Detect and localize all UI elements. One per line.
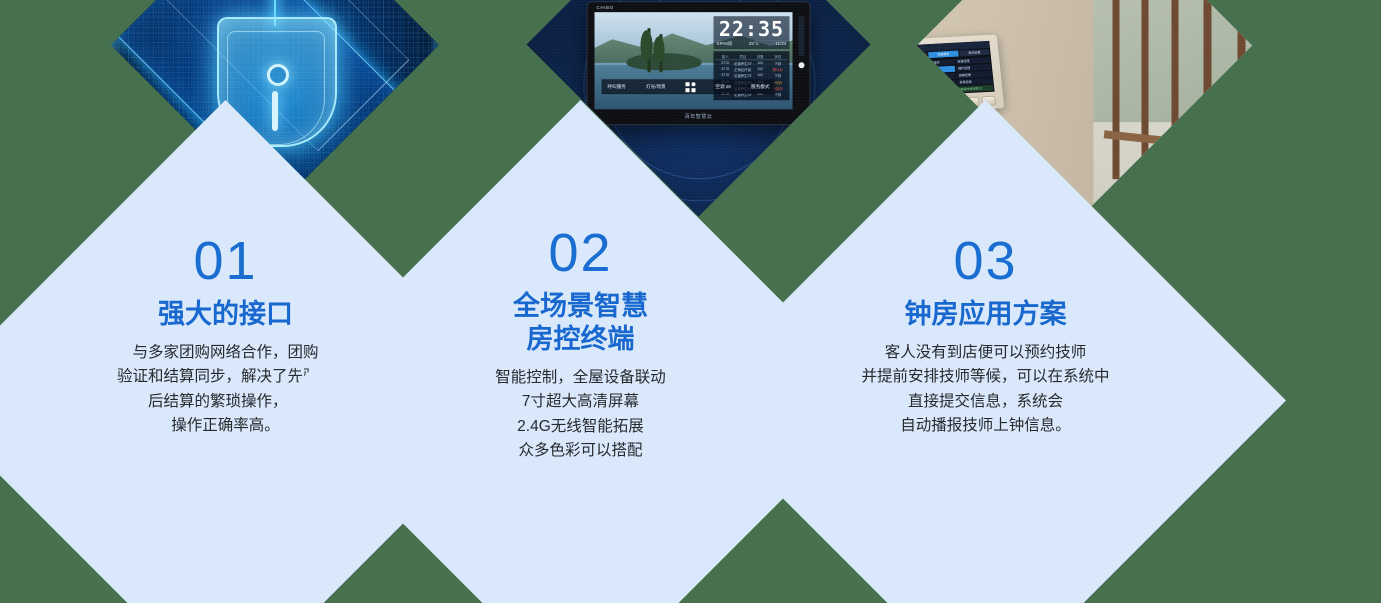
wall-panel-side-menu[interactable]: 点钟 ALL钟 圈钟 换钟 选钟 xyxy=(917,59,921,94)
panel-1-number: 01 xyxy=(193,234,257,288)
panel-3-body: 客人没有到店便可以预约技师 并提前安排技师等候，可以在系统中 直接提交信息，系统… xyxy=(861,340,1109,438)
panel-3-number: 03 xyxy=(953,234,1017,288)
spark-dot xyxy=(377,138,381,142)
side-item-3[interactable]: 换钟 xyxy=(917,80,921,87)
wood-partition-slat xyxy=(1237,0,1245,197)
panel-2-number: 02 xyxy=(548,226,612,280)
hw-button[interactable] xyxy=(950,96,965,107)
hw-button[interactable] xyxy=(918,97,933,108)
panel-2-body: 智能控制，全屋设备联动 7寸超大高清屏幕 2.4G无线智能拓展 众多色彩可以搭配 xyxy=(495,365,666,463)
hw-button[interactable] xyxy=(934,96,949,107)
panel-3-text-diamond: 03 钟房应用方案 客人没有到店便可以预约技师 并提前安排技师等候，可以在系统中… xyxy=(685,100,1286,603)
side-item-2[interactable]: 圈钟 xyxy=(917,73,920,80)
feature-diamond-banner: CHIBO 22:35 SPA6房 25°C 1 xyxy=(0,0,1381,603)
panel-1-headline: 强大的接口 xyxy=(158,298,293,331)
side-item-1[interactable]: ALL钟 xyxy=(917,66,919,73)
panel-3-headline: 钟房应用方案 xyxy=(905,298,1067,331)
service-left-4[interactable]: 养生技师1级 xyxy=(922,85,958,93)
spark-dot xyxy=(145,101,150,106)
panel-3-text-wrap: 03 钟房应用方案 客人没有到店便可以预约技师 并提前安排技师等候，可以在系统中… xyxy=(685,100,1286,603)
side-item-0[interactable]: 点钟 xyxy=(917,59,919,66)
side-item-4[interactable]: 选钟 xyxy=(917,87,921,94)
panel-2-headline: 全场景智慧 房控终端 xyxy=(513,290,648,356)
